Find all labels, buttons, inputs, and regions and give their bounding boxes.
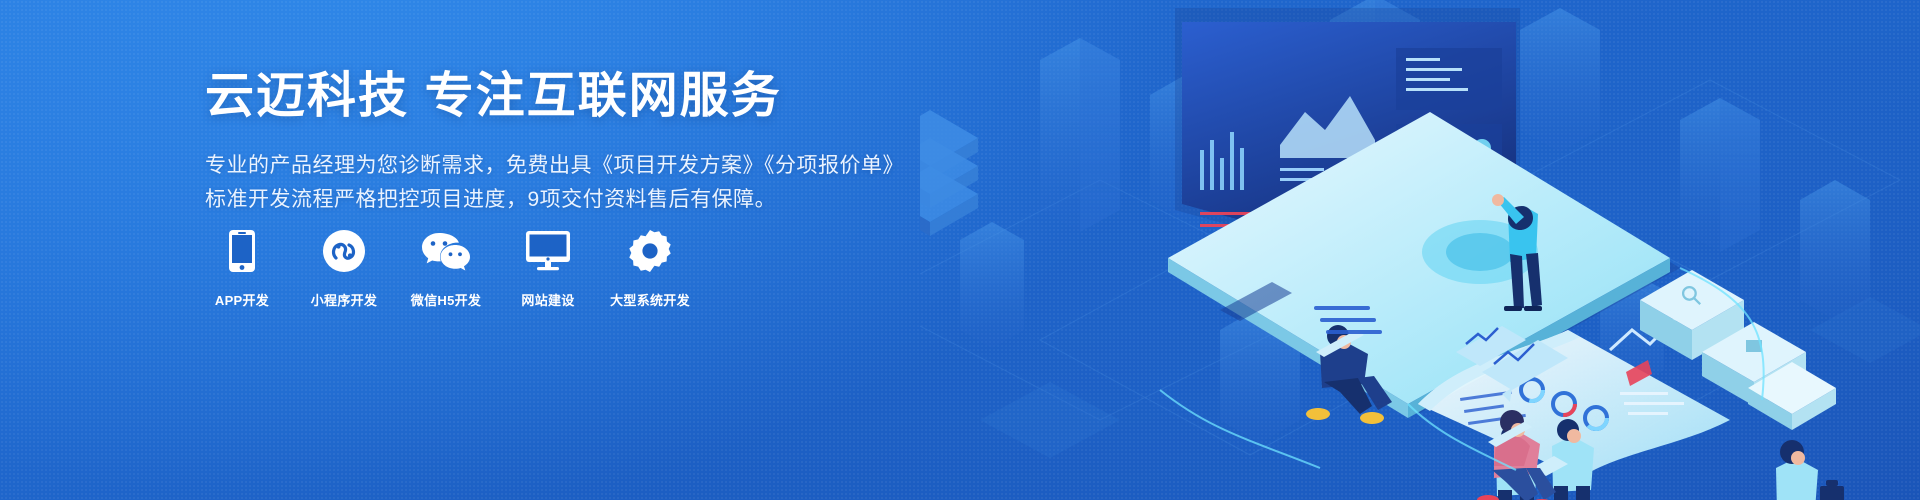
service-label: 大型系统开发	[610, 290, 690, 309]
background-skyscrapers	[960, 0, 1870, 443]
service-label: 小程序开发	[311, 290, 378, 309]
service-item-website[interactable]: 网站建设	[511, 228, 585, 309]
service-item-wechat-h5[interactable]: 微信H5开发	[409, 228, 483, 309]
service-label: 微信H5开发	[411, 290, 481, 309]
dashboard-screen	[1175, 8, 1520, 305]
subtitle-line-1: 专业的产品经理为您诊断需求，免费出具《项目开发方案》《分项报价单》	[205, 149, 925, 183]
connector-lines	[1160, 268, 1764, 470]
wechat-icon	[422, 228, 470, 274]
subtitle-line-2: 标准开发流程严格把控项目进度，9项交付资料售后有保障。	[205, 183, 925, 217]
service-item-large-system[interactable]: 大型系统开发	[613, 228, 687, 309]
isometric-grid-decoration	[920, 0, 1920, 500]
server-stack	[920, 110, 978, 236]
service-label: 网站建设	[521, 290, 574, 309]
woman-on-laptop-block	[1477, 340, 1568, 500]
two-men-talking	[1496, 419, 1594, 500]
mini-program-icon	[323, 228, 365, 274]
service-label: APP开发	[215, 290, 269, 309]
gear-icon	[629, 228, 671, 274]
service-item-app[interactable]: APP开发	[205, 228, 279, 309]
hero-banner: 云迈科技 专注互联网服务 专业的产品经理为您诊断需求，免费出具《项目开发方案》《…	[0, 0, 1920, 500]
monitor-icon	[526, 228, 570, 274]
banner-copy: 云迈科技 专注互联网服务 专业的产品经理为您诊断需求，免费出具《项目开发方案》《…	[205, 66, 925, 217]
standing-man-pointing	[1492, 194, 1542, 311]
seated-man-with-laptop	[1306, 308, 1392, 424]
curved-report-sheet	[1418, 318, 1730, 478]
banner-subtitle: 专业的产品经理为您诊断需求，免费出具《项目开发方案》《分项报价单》 标准开发流程…	[205, 149, 925, 217]
walking-man-with-briefcase	[1776, 440, 1844, 500]
mobile-phone-icon	[229, 228, 255, 274]
hero-illustration	[920, 0, 1920, 500]
stepped-blocks	[1474, 270, 1836, 500]
service-list: APP开发 小程序开发	[205, 228, 687, 309]
giant-tablet-platform	[1168, 112, 1680, 418]
page-title: 云迈科技 专注互联网服务	[205, 66, 925, 127]
service-item-miniprogram[interactable]: 小程序开发	[307, 228, 381, 309]
